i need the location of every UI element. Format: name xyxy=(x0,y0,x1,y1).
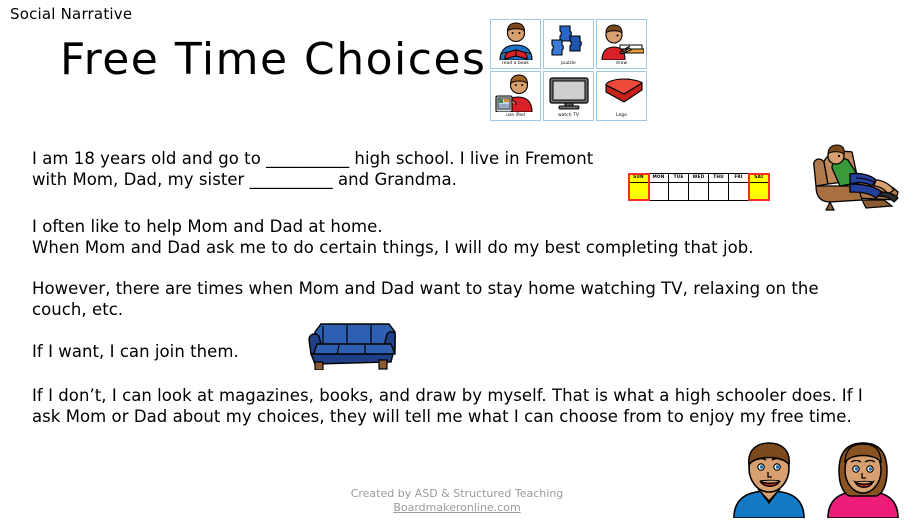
calendar-day-mon[interactable]: MON xyxy=(649,174,669,200)
choice-card-label: watch TV xyxy=(558,113,579,119)
document-type-label: Social Narrative xyxy=(10,5,132,23)
calendar-day-label: WED xyxy=(689,174,708,183)
narrative-paragraph-3: However, there are times when Mom and Da… xyxy=(32,278,877,320)
calendar-day-thu[interactable]: THU xyxy=(709,174,729,200)
choice-card-read-a-book[interactable]: read a book xyxy=(490,19,541,69)
lego-icon xyxy=(597,72,646,113)
choice-card-label: draw xyxy=(616,61,627,67)
footer-credit: Created by ASD & Structured Teaching xyxy=(0,487,914,501)
narrative-paragraph-1: I am 18 years old and go to __________ h… xyxy=(32,148,632,190)
calendar-day-label: FRI xyxy=(729,174,748,183)
calendar-day-cell[interactable] xyxy=(649,183,668,200)
week-calendar: SUN MON TUE WED THU FRI SAT xyxy=(628,173,770,201)
calendar-day-label: SAT xyxy=(749,174,769,183)
calendar-day-label: TUE xyxy=(669,174,688,183)
choice-card-watch-tv[interactable]: watch TV xyxy=(543,71,594,121)
calendar-day-cell[interactable] xyxy=(629,183,648,200)
choice-card-label: use iPad xyxy=(506,113,525,119)
choice-card-label: read a book xyxy=(502,61,529,67)
calendar-day-label: MON xyxy=(649,174,668,183)
choice-card-lego[interactable]: Lego xyxy=(596,71,647,121)
choice-card-label: Lego xyxy=(616,113,627,119)
calendar-day-cell[interactable] xyxy=(709,183,728,200)
calendar-day-cell[interactable] xyxy=(749,183,769,200)
choice-card-puzzle[interactable]: puzzle xyxy=(543,19,594,69)
choice-card-draw[interactable]: draw xyxy=(596,19,647,69)
calendar-day-tue[interactable]: TUE xyxy=(669,174,689,200)
narrative-paragraph-5: If I don’t, I can look at magazines, boo… xyxy=(32,385,892,427)
calendar-day-sun[interactable]: SUN xyxy=(629,174,649,200)
watch-tv-icon xyxy=(544,72,593,113)
choice-card-label: puzzle xyxy=(561,61,576,67)
calendar-day-cell[interactable] xyxy=(729,183,748,200)
narrative-paragraph-4: If I want, I can join them. xyxy=(32,341,332,362)
puzzle-icon xyxy=(544,20,593,61)
choice-card-use-ipad[interactable]: use iPad xyxy=(490,71,541,121)
footer: Created by ASD & Structured Teaching Boa… xyxy=(0,487,914,515)
choice-picture-grid: read a book puzzle xyxy=(489,19,655,123)
calendar-day-cell[interactable] xyxy=(689,183,708,200)
calendar-day-sat[interactable]: SAT xyxy=(749,174,769,200)
calendar-day-wed[interactable]: WED xyxy=(689,174,709,200)
man-relaxing-in-recliner-icon xyxy=(806,140,902,216)
calendar-day-fri[interactable]: FRI xyxy=(729,174,749,200)
page-title: Free Time Choices xyxy=(60,34,486,85)
read-a-book-icon xyxy=(491,20,540,61)
blue-couch-icon xyxy=(303,318,402,374)
use-ipad-icon xyxy=(491,72,540,113)
calendar-day-cell[interactable] xyxy=(669,183,688,200)
calendar-day-label: THU xyxy=(709,174,728,183)
calendar-day-label: SUN xyxy=(629,174,648,183)
draw-icon xyxy=(597,20,646,61)
narrative-paragraph-2: I often like to help Mom and Dad at home… xyxy=(32,216,792,258)
footer-website-link[interactable]: Boardmakeronline.com xyxy=(0,501,914,515)
